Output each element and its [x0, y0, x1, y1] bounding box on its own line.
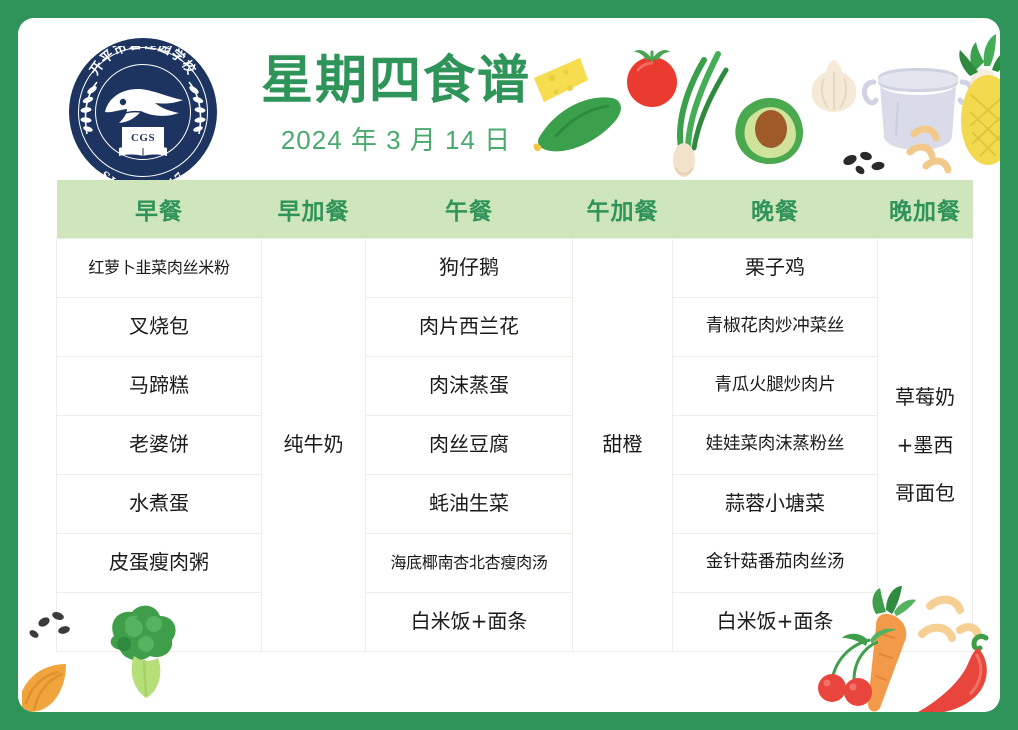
cell-dinner-1: 栗子鸡: [673, 238, 878, 297]
cell-lunch-1: 狗仔鹅: [366, 238, 573, 297]
evening-snack-line-3: 哥面包: [881, 469, 969, 517]
column-header-breakfast: 早餐: [57, 180, 262, 238]
poster-card: 开平市碧桂园学校 CGS: [18, 18, 1000, 712]
crest-since-arc: SINCE 2017: [69, 134, 217, 182]
column-header-evening-snack: 晚加餐: [878, 180, 973, 238]
school-crest-logo: 开平市碧桂园学校 CGS: [69, 38, 217, 186]
poster-header: 开平市碧桂园学校 CGS: [18, 18, 1000, 180]
cell-lunch-4: 肉丝豆腐: [366, 415, 573, 474]
title-block: 星期四食谱 2024 年 3 月 14 日: [246, 52, 546, 157]
green-onion-icon: [673, 54, 726, 177]
cell-dinner-4: 娃娃菜肉沫蒸粉丝: [673, 415, 878, 474]
cell-dinner-6: 金针菇番茄肉丝汤: [673, 533, 878, 592]
cell-breakfast-7: [57, 592, 262, 651]
cell-dinner-3: 青瓜火腿炒肉片: [673, 356, 878, 415]
cell-breakfast-1: 红萝卜韭菜肉丝米粉: [57, 238, 262, 297]
evening-snack-line-2: +墨西: [881, 421, 969, 469]
cell-breakfast-2: 叉烧包: [57, 297, 262, 356]
table-row: 马蹄糕 肉沫蒸蛋 青瓜火腿炒肉片: [57, 356, 973, 415]
table-row: 叉烧包 肉片西兰花 青椒花肉炒冲菜丝: [57, 297, 973, 356]
table-row: 红萝卜韭菜肉丝米粉 纯牛奶 狗仔鹅 甜橙 栗子鸡 草莓奶 +墨西 哥面包: [57, 238, 973, 297]
cooking-pot-icon: [864, 68, 971, 150]
pineapple-icon: [959, 34, 1000, 165]
cell-breakfast-6: 皮蛋瘦肉粥: [57, 533, 262, 592]
menu-table: 早餐 早加餐 午餐 午加餐 晚餐 晚加餐 红萝卜韭菜肉丝米粉 纯牛奶 狗仔鹅 甜…: [56, 180, 973, 652]
food-illustration-strip: [526, 32, 1000, 184]
table-row: 水煮蛋 蚝油生菜 蒜蓉小塘菜: [57, 474, 973, 533]
zucchini-icon: [534, 97, 621, 151]
svg-text:开平市碧桂园学校: 开平市碧桂园学校: [87, 46, 199, 78]
column-header-dinner: 晚餐: [673, 180, 878, 238]
cell-breakfast-3: 马蹄糕: [57, 356, 262, 415]
cell-lunch-5: 蚝油生菜: [366, 474, 573, 533]
table-row: 白米饭+面条 白米饭+面条: [57, 592, 973, 651]
cell-dinner-5: 蒜蓉小塘菜: [673, 474, 878, 533]
table-row: 皮蛋瘦肉粥 海底椰南杏北杏瘦肉汤 金针菇番茄肉丝汤: [57, 533, 973, 592]
crest-laurel-right-icon: [183, 78, 209, 140]
column-header-afternoon-snack: 午加餐: [573, 180, 673, 238]
evening-snack-line-1: 草莓奶: [881, 373, 969, 421]
garlic-bulb-icon: [812, 60, 857, 112]
cell-lunch-2: 肉片西兰花: [366, 297, 573, 356]
cell-lunch-3: 肉沫蒸蛋: [366, 356, 573, 415]
cell-lunch-7: 白米饭+面条: [366, 592, 573, 651]
table-row: 老婆饼 肉丝豆腐 娃娃菜肉沫蒸粉丝: [57, 415, 973, 474]
cell-morning-snack: 纯牛奶: [262, 238, 366, 651]
black-beans-icon: [842, 151, 885, 176]
menu-header-row: 早餐 早加餐 午餐 午加餐 晚餐 晚加餐: [57, 180, 973, 238]
column-header-morning-snack: 早加餐: [262, 180, 366, 238]
cell-lunch-6: 海底椰南杏北杏瘦肉汤: [366, 533, 573, 592]
cell-breakfast-4: 老婆饼: [57, 415, 262, 474]
crest-laurel-left-icon: [77, 78, 103, 140]
page-title: 星期四食谱: [246, 52, 546, 110]
cell-afternoon-snack: 甜橙: [573, 238, 673, 651]
cell-dinner-7: 白米饭+面条: [673, 592, 878, 651]
column-header-lunch: 午餐: [366, 180, 573, 238]
avocado-half-icon: [735, 98, 803, 164]
cheese-wedge-icon: [534, 58, 588, 102]
cell-breakfast-5: 水煮蛋: [57, 474, 262, 533]
bottom-border-band: [0, 712, 1018, 730]
cell-dinner-2: 青椒花肉炒冲菜丝: [673, 297, 878, 356]
menu-poster: 开平市碧桂园学校 CGS: [0, 0, 1018, 730]
menu-date: 2024 年 3 月 14 日: [246, 120, 546, 157]
tomato-icon: [627, 50, 677, 107]
cell-evening-snack: 草莓奶 +墨西 哥面包: [878, 238, 973, 651]
pumpkin-slice-icon: [22, 664, 66, 712]
